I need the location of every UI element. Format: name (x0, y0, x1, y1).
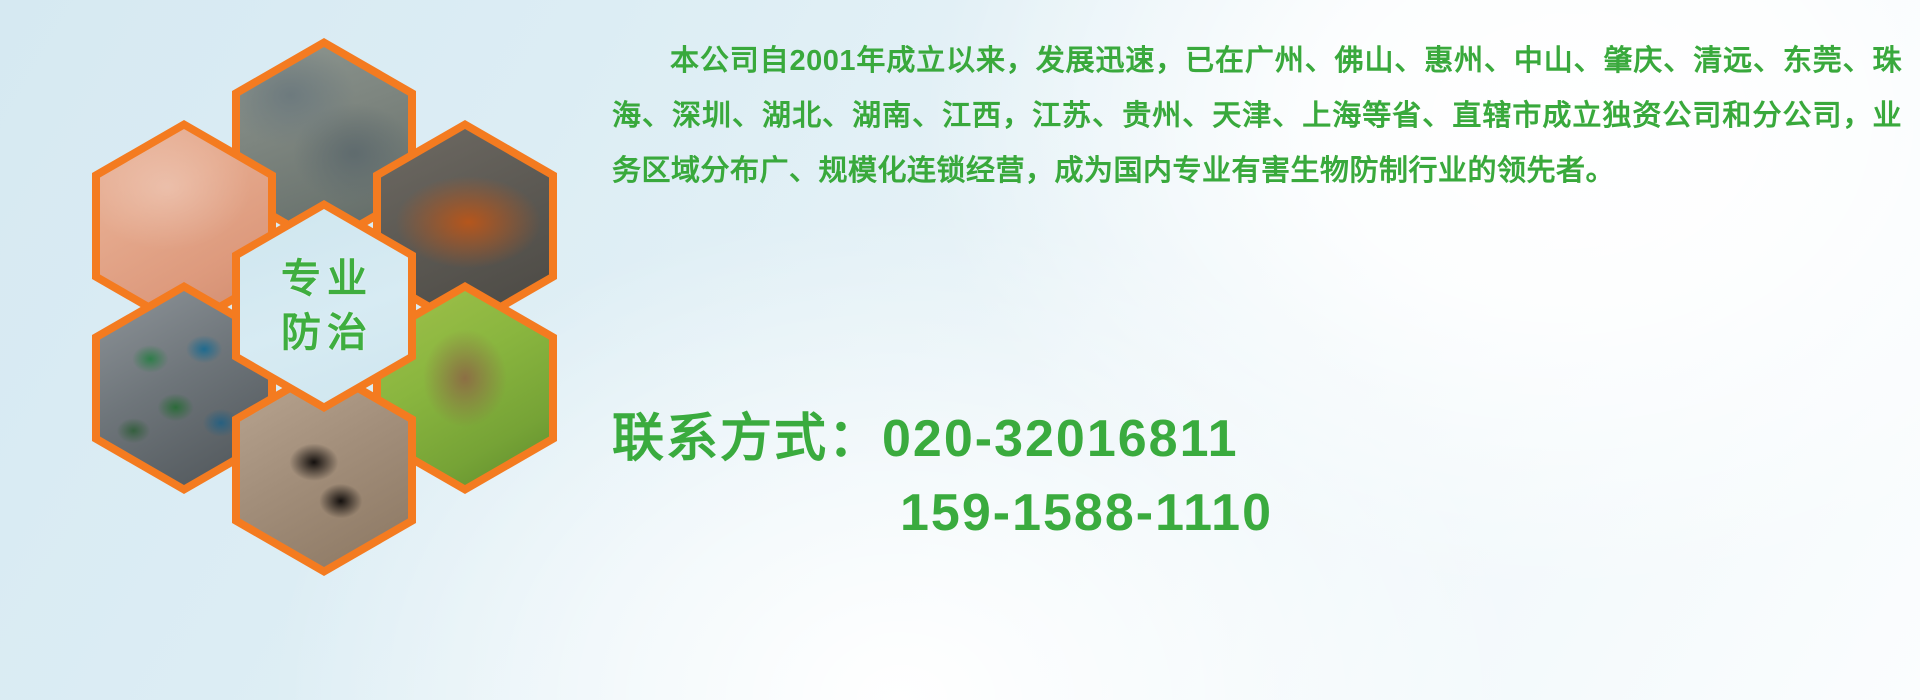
slogan-line-2: 防治 (275, 306, 373, 360)
contact-primary-line[interactable]: 联系方式：020-32016811 (612, 402, 1912, 476)
hexagon-photo-cluster: 专业 防治 (92, 14, 592, 554)
intro-copy-block: 本公司自2001年成立以来，发展迅速，已在广州、佛山、惠州、中山、肇庆、清远、东… (612, 34, 1902, 199)
company-intro-paragraph: 本公司自2001年成立以来，发展迅速，已在广州、佛山、惠州、中山、肇庆、清远、东… (612, 34, 1902, 199)
contact-secondary-line[interactable]: 159-1588-1110 (612, 476, 1912, 550)
hex-slogan-text: 专业 防治 (240, 209, 408, 403)
slogan-line-1: 专业 (275, 252, 373, 306)
hex-slogan-clip: 专业 防治 (240, 209, 408, 403)
promotional-banner: 专业 防治 本公司自2001年成立以来，发展迅速，已在广州、佛山、惠州、中山、肇… (0, 0, 1920, 700)
contact-block: 联系方式：020-32016811 159-1588-1110 (612, 402, 1912, 550)
